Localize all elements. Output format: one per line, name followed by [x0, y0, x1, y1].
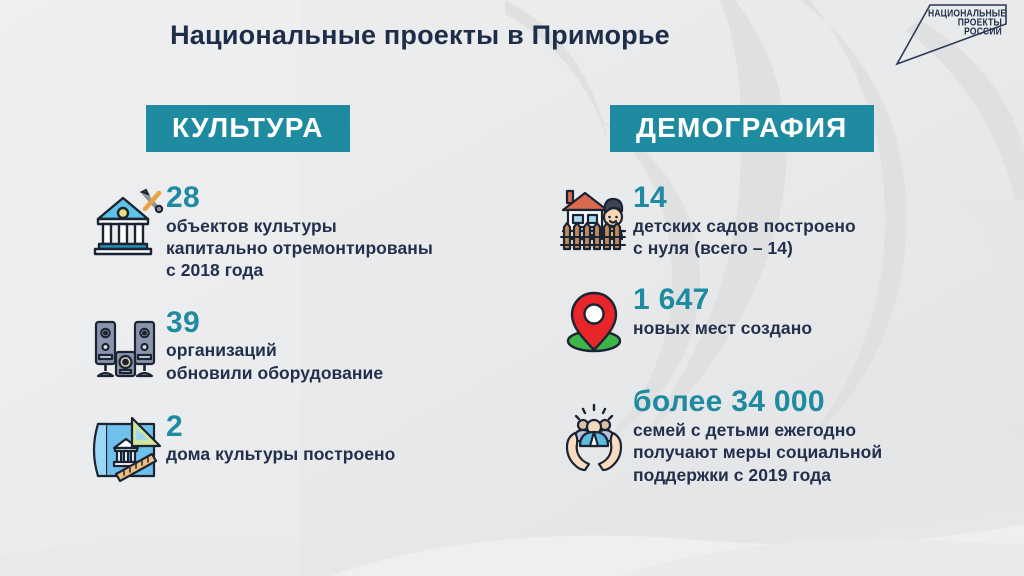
stat-number: 1 647 [633, 285, 812, 316]
section-culture-title: КУЛЬТУРА [146, 105, 350, 152]
blueprint-drafting-icon [88, 410, 166, 488]
stat-text: дома культуры построено [166, 443, 395, 465]
hands-holding-family-icon [555, 399, 633, 477]
stat-text: организацийобновили оборудование [166, 339, 383, 384]
stat-row: 28 объектов культурыкапитально отремонти… [88, 179, 518, 282]
stat-body: 28 объектов культурыкапитально отремонти… [166, 179, 433, 282]
stat-row: 39 организацийобновили оборудование [88, 304, 518, 386]
stat-body: более 34 000 семей с детьми ежегоднополу… [633, 383, 882, 486]
stat-text: семей с детьми ежегоднополучают меры соц… [633, 419, 882, 486]
museum-building-repair-icon [88, 185, 166, 263]
stat-row: 2 дома культуры построено [88, 408, 518, 488]
culture-stat-list: 28 объектов культурыкапитально отремонти… [88, 179, 518, 488]
map-pin-icon [555, 283, 633, 361]
section-culture: КУЛЬТУРА [88, 105, 518, 510]
page-title: Национальные проекты в Приморье [0, 20, 840, 51]
section-demography-header-wrap: ДЕМОГРАФИЯ [555, 105, 975, 152]
section-demography: ДЕМОГРАФИЯ [555, 105, 975, 508]
stat-number: 14 [633, 183, 856, 214]
stat-row: 1 647 новых мест создано [555, 281, 975, 361]
stat-body: 14 детских садов построенос нуля (всего … [633, 179, 856, 259]
speaker-system-icon [88, 308, 166, 386]
stat-row: более 34 000 семей с детьми ежегоднополу… [555, 383, 975, 486]
stat-number: 28 [166, 183, 433, 214]
stat-body: 39 организацийобновили оборудование [166, 304, 383, 384]
stat-row: 14 детских садов построенос нуля (всего … [555, 179, 975, 259]
stat-text: детских садов построенос нуля (всего – 1… [633, 215, 856, 260]
section-culture-header-wrap: КУЛЬТУРА [88, 105, 518, 152]
logo-text-block: НАЦИОНАЛЬНЫЕ ПРОЕКТЫ РОССИИ [928, 9, 1002, 35]
stat-text: объектов культурыкапитально отремонтиров… [166, 215, 433, 282]
page-header: Национальные проекты в Приморье НАЦИОНАЛ… [0, 0, 1024, 72]
national-projects-russia-logo: НАЦИОНАЛЬНЫЕ ПРОЕКТЫ РОССИИ [894, 2, 1012, 68]
stat-body: 1 647 новых мест создано [633, 281, 812, 339]
house-with-child-icon [555, 181, 633, 259]
stat-number-prefix: более [633, 385, 731, 418]
stat-number: более 34 000 [633, 387, 882, 418]
content-columns: КУЛЬТУРА [0, 0, 1024, 576]
stat-number: 2 [166, 412, 395, 443]
demography-stat-list: 14 детских садов построенос нуля (всего … [555, 179, 975, 486]
logo-line-3: РОССИИ [928, 26, 1002, 37]
stat-number: 39 [166, 308, 383, 339]
stat-text: новых мест создано [633, 317, 812, 339]
stat-body: 2 дома культуры построено [166, 408, 395, 466]
stat-number-value: 34 000 [731, 385, 825, 418]
section-demography-title: ДЕМОГРАФИЯ [610, 105, 874, 152]
